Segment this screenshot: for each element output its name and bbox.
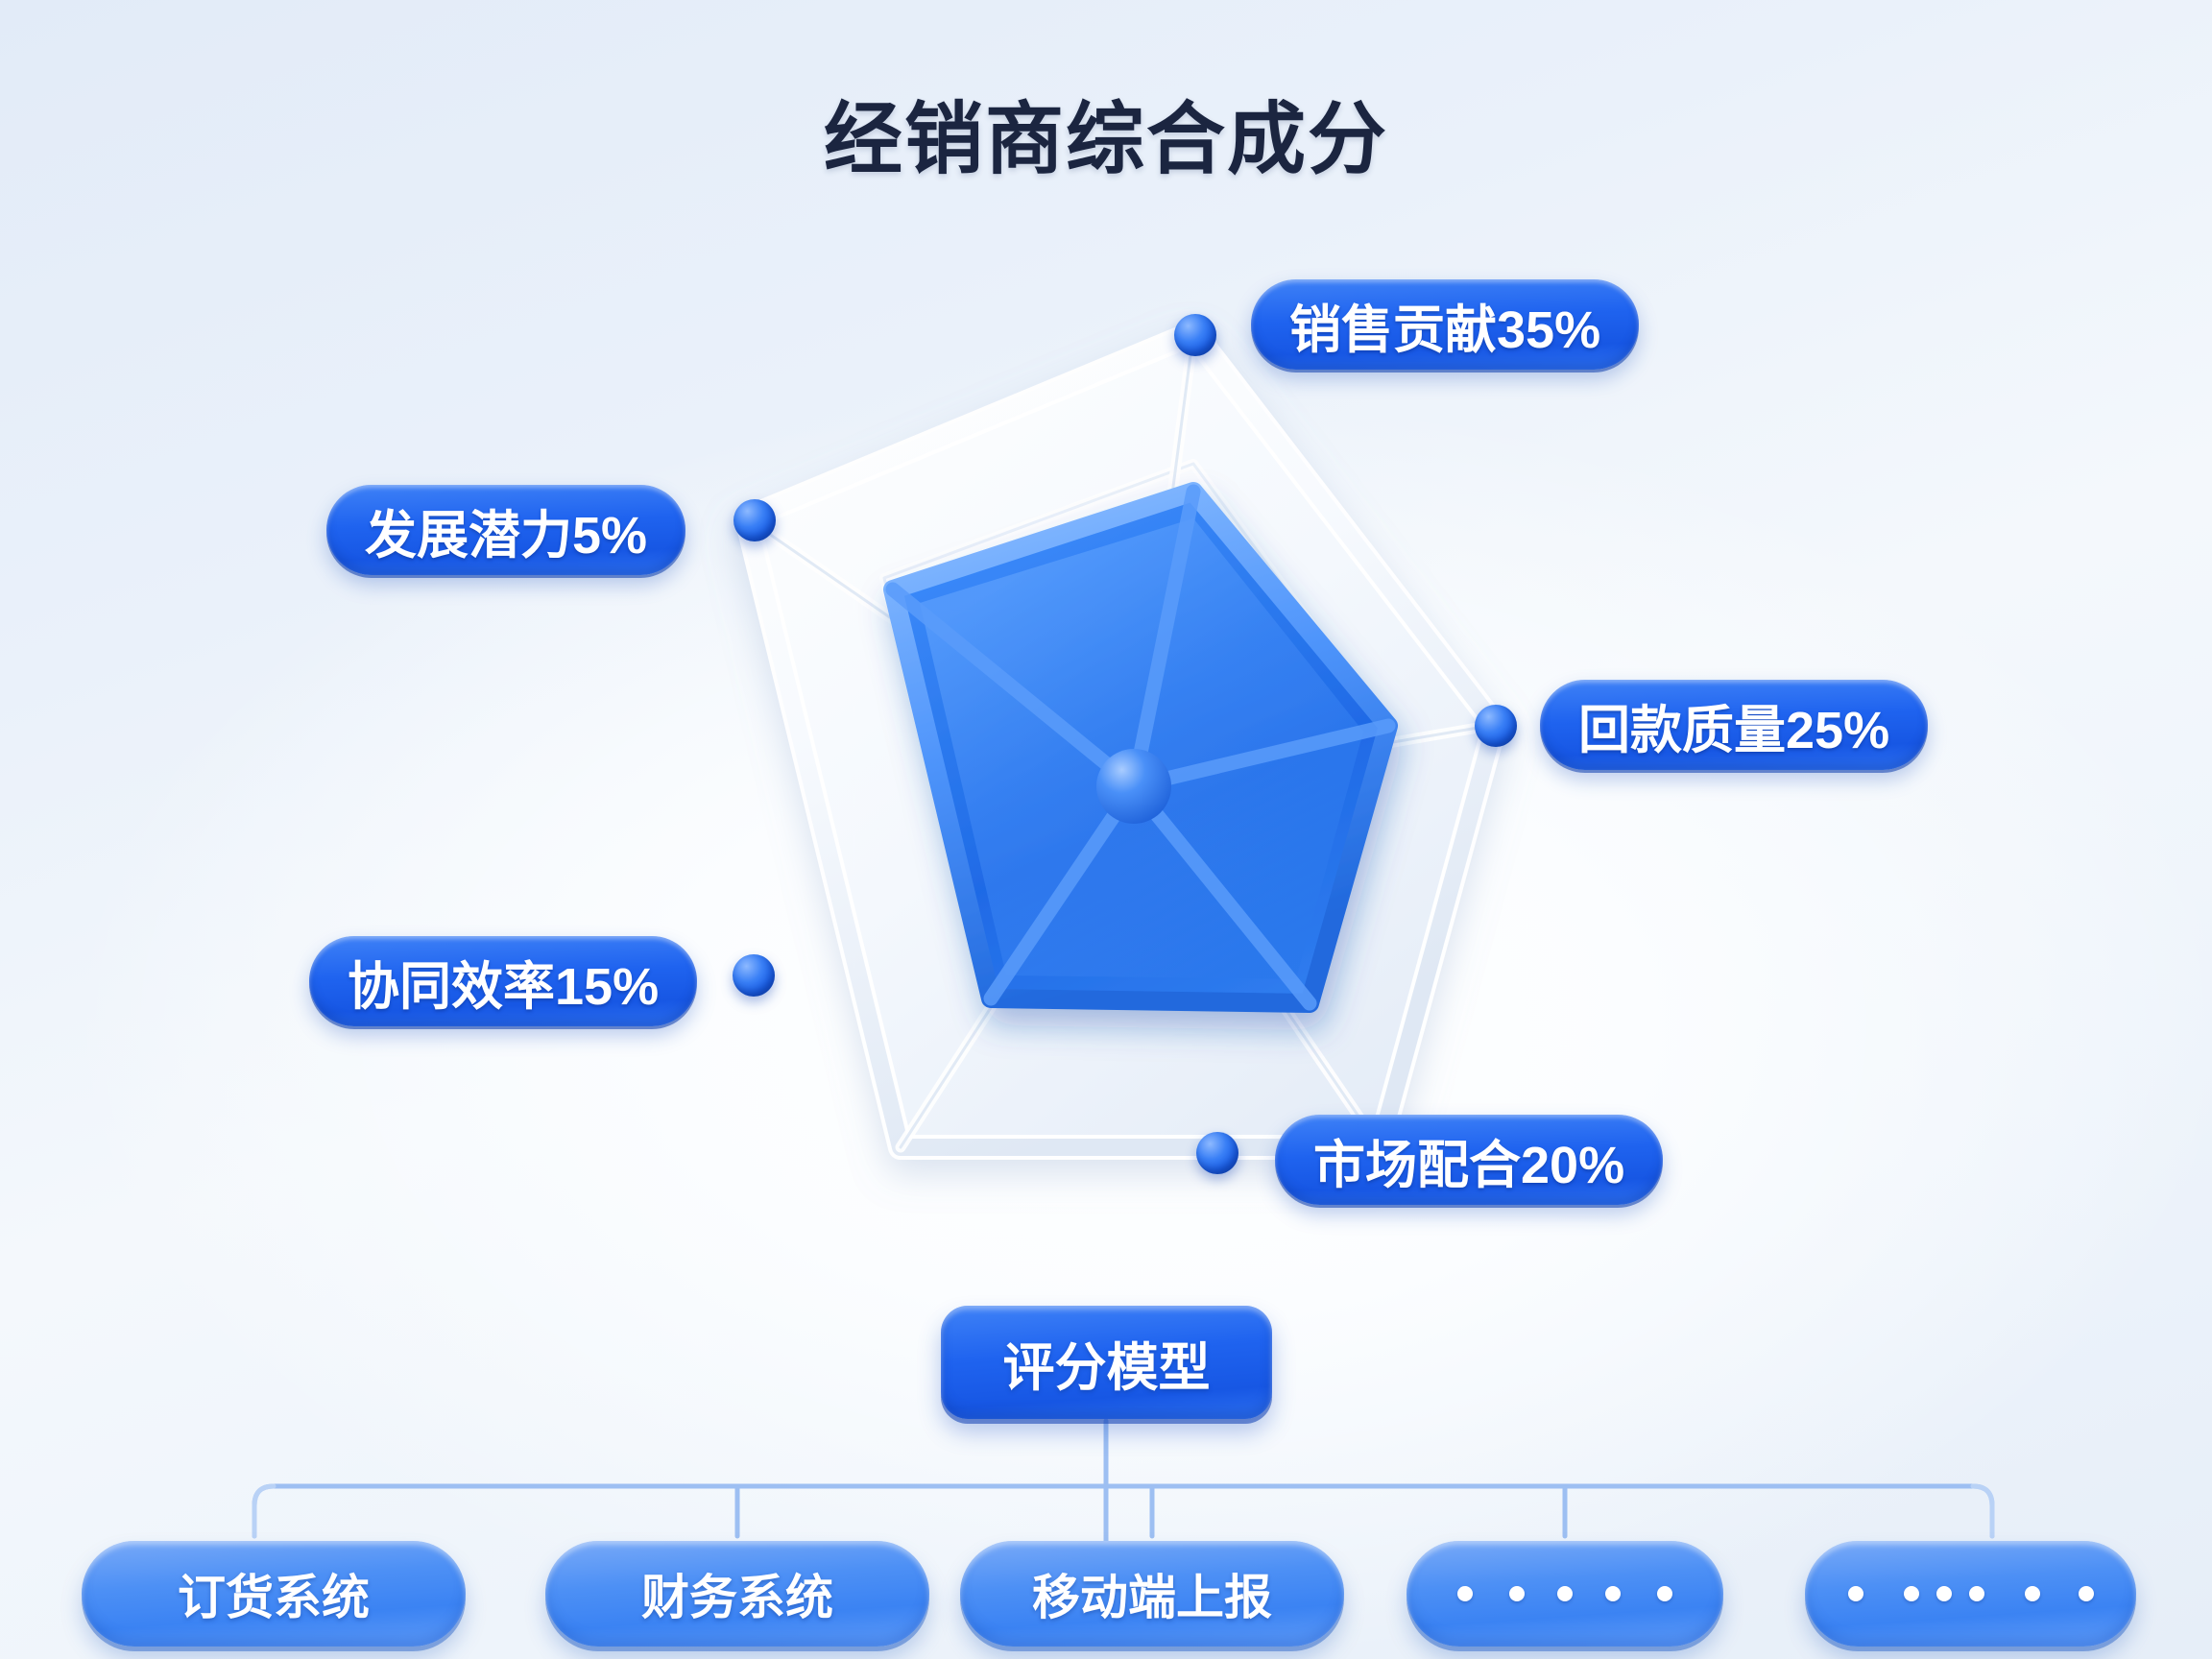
radar-chart-svg — [614, 240, 1632, 1258]
radar-vertex-dot-payment — [1475, 705, 1517, 747]
org-node-mobile[interactable]: 移动端上报 — [960, 1541, 1344, 1647]
org-node-root[interactable]: 评分模型 — [941, 1306, 1272, 1419]
radar-vertex-dot-market — [1196, 1132, 1238, 1174]
ellipsis-icon — [1457, 1586, 1672, 1601]
radar-label-synergy[interactable]: 协同效率15% — [309, 936, 697, 1026]
radar-label-market[interactable]: 市场配合20% — [1275, 1115, 1663, 1205]
radar-vertex-dot-synergy — [733, 954, 775, 997]
radar-label-sales[interactable]: 销售贡献35% — [1251, 279, 1639, 370]
radar-label-potential[interactable]: 发展潜力5% — [326, 485, 685, 575]
radar-chart — [614, 240, 1632, 1258]
org-tree: 评分模型 订货系统 财务系统 移动端上报 — [0, 1248, 2212, 1659]
org-node-finance[interactable]: 财务系统 — [545, 1541, 929, 1647]
ellipsis-icon — [1848, 1586, 2094, 1601]
org-node-more-2[interactable] — [1805, 1541, 2136, 1647]
poster-canvas: 经销商综合成分 — [0, 0, 2212, 1659]
org-node-order[interactable]: 订货系统 — [82, 1541, 466, 1647]
radar-vertex-dot-sales — [1174, 314, 1216, 356]
radar-label-payment[interactable]: 回款质量25% — [1540, 680, 1928, 770]
radar-vertex-dot-potential — [733, 499, 776, 541]
org-node-more-1[interactable] — [1407, 1541, 1723, 1647]
page-title: 经销商综合成分 — [0, 75, 2212, 189]
radar-center-hub — [1096, 749, 1171, 824]
